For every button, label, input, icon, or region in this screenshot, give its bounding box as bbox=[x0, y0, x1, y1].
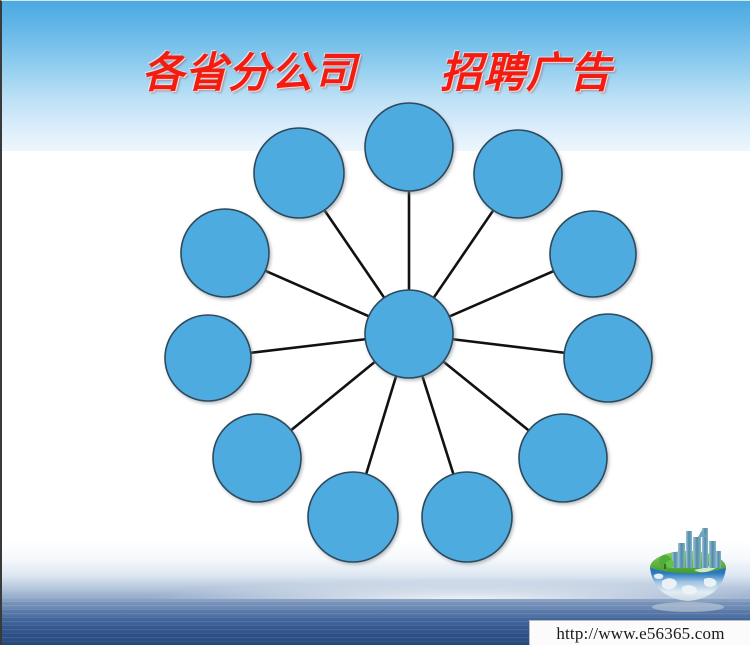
node-circle-7[interactable] bbox=[308, 472, 398, 562]
node-circle-11[interactable] bbox=[254, 128, 344, 218]
spoke-line-5 bbox=[442, 360, 531, 431]
hub-shape[interactable] bbox=[365, 290, 453, 378]
logo-city-buildings bbox=[672, 528, 721, 568]
node-circle-1[interactable] bbox=[365, 103, 453, 191]
node-shape-3[interactable] bbox=[550, 211, 636, 297]
watermark-url-box: http://www.e56365.com bbox=[529, 620, 750, 645]
node-shape-2[interactable] bbox=[474, 130, 562, 218]
globe-city-logo bbox=[632, 521, 744, 613]
node-circle-10[interactable] bbox=[181, 209, 269, 297]
spoke-line-4 bbox=[451, 339, 567, 353]
node-shape-9[interactable] bbox=[165, 315, 251, 401]
slide-canvas: 各省分公司 招聘广告 bbox=[0, 0, 750, 645]
logo-shadow bbox=[652, 602, 724, 612]
node-shape-6[interactable] bbox=[422, 472, 512, 562]
node-circle-9[interactable] bbox=[165, 315, 251, 401]
node-shape-8[interactable] bbox=[213, 414, 301, 502]
spoke-line-6 bbox=[422, 374, 454, 476]
node-shape-1[interactable] bbox=[365, 103, 453, 191]
node-circle-3[interactable] bbox=[550, 211, 636, 297]
spoke-line-11 bbox=[323, 209, 385, 300]
node-shape-4[interactable] bbox=[564, 314, 652, 402]
hub-node-group bbox=[365, 290, 453, 378]
spoke-line-8 bbox=[290, 361, 377, 432]
node-shape-5[interactable] bbox=[519, 414, 607, 502]
node-circle-6[interactable] bbox=[422, 472, 512, 562]
spoke-line-7 bbox=[366, 374, 397, 476]
node-circle-4[interactable] bbox=[564, 314, 652, 402]
spoke-line-2 bbox=[433, 209, 495, 300]
node-circle-5[interactable] bbox=[519, 414, 607, 502]
node-circle-8[interactable] bbox=[213, 414, 301, 502]
hub-circle[interactable] bbox=[365, 290, 453, 378]
watermark-url-text: http://www.e56365.com bbox=[556, 625, 724, 642]
spoke-line-10 bbox=[263, 270, 370, 317]
node-shape-10[interactable] bbox=[181, 209, 269, 297]
node-circle-2[interactable] bbox=[474, 130, 562, 218]
node-shape-7[interactable] bbox=[308, 472, 398, 562]
spoke-line-9 bbox=[249, 339, 368, 353]
node-shape-11[interactable] bbox=[254, 128, 344, 218]
spoke-line-3 bbox=[448, 270, 556, 317]
